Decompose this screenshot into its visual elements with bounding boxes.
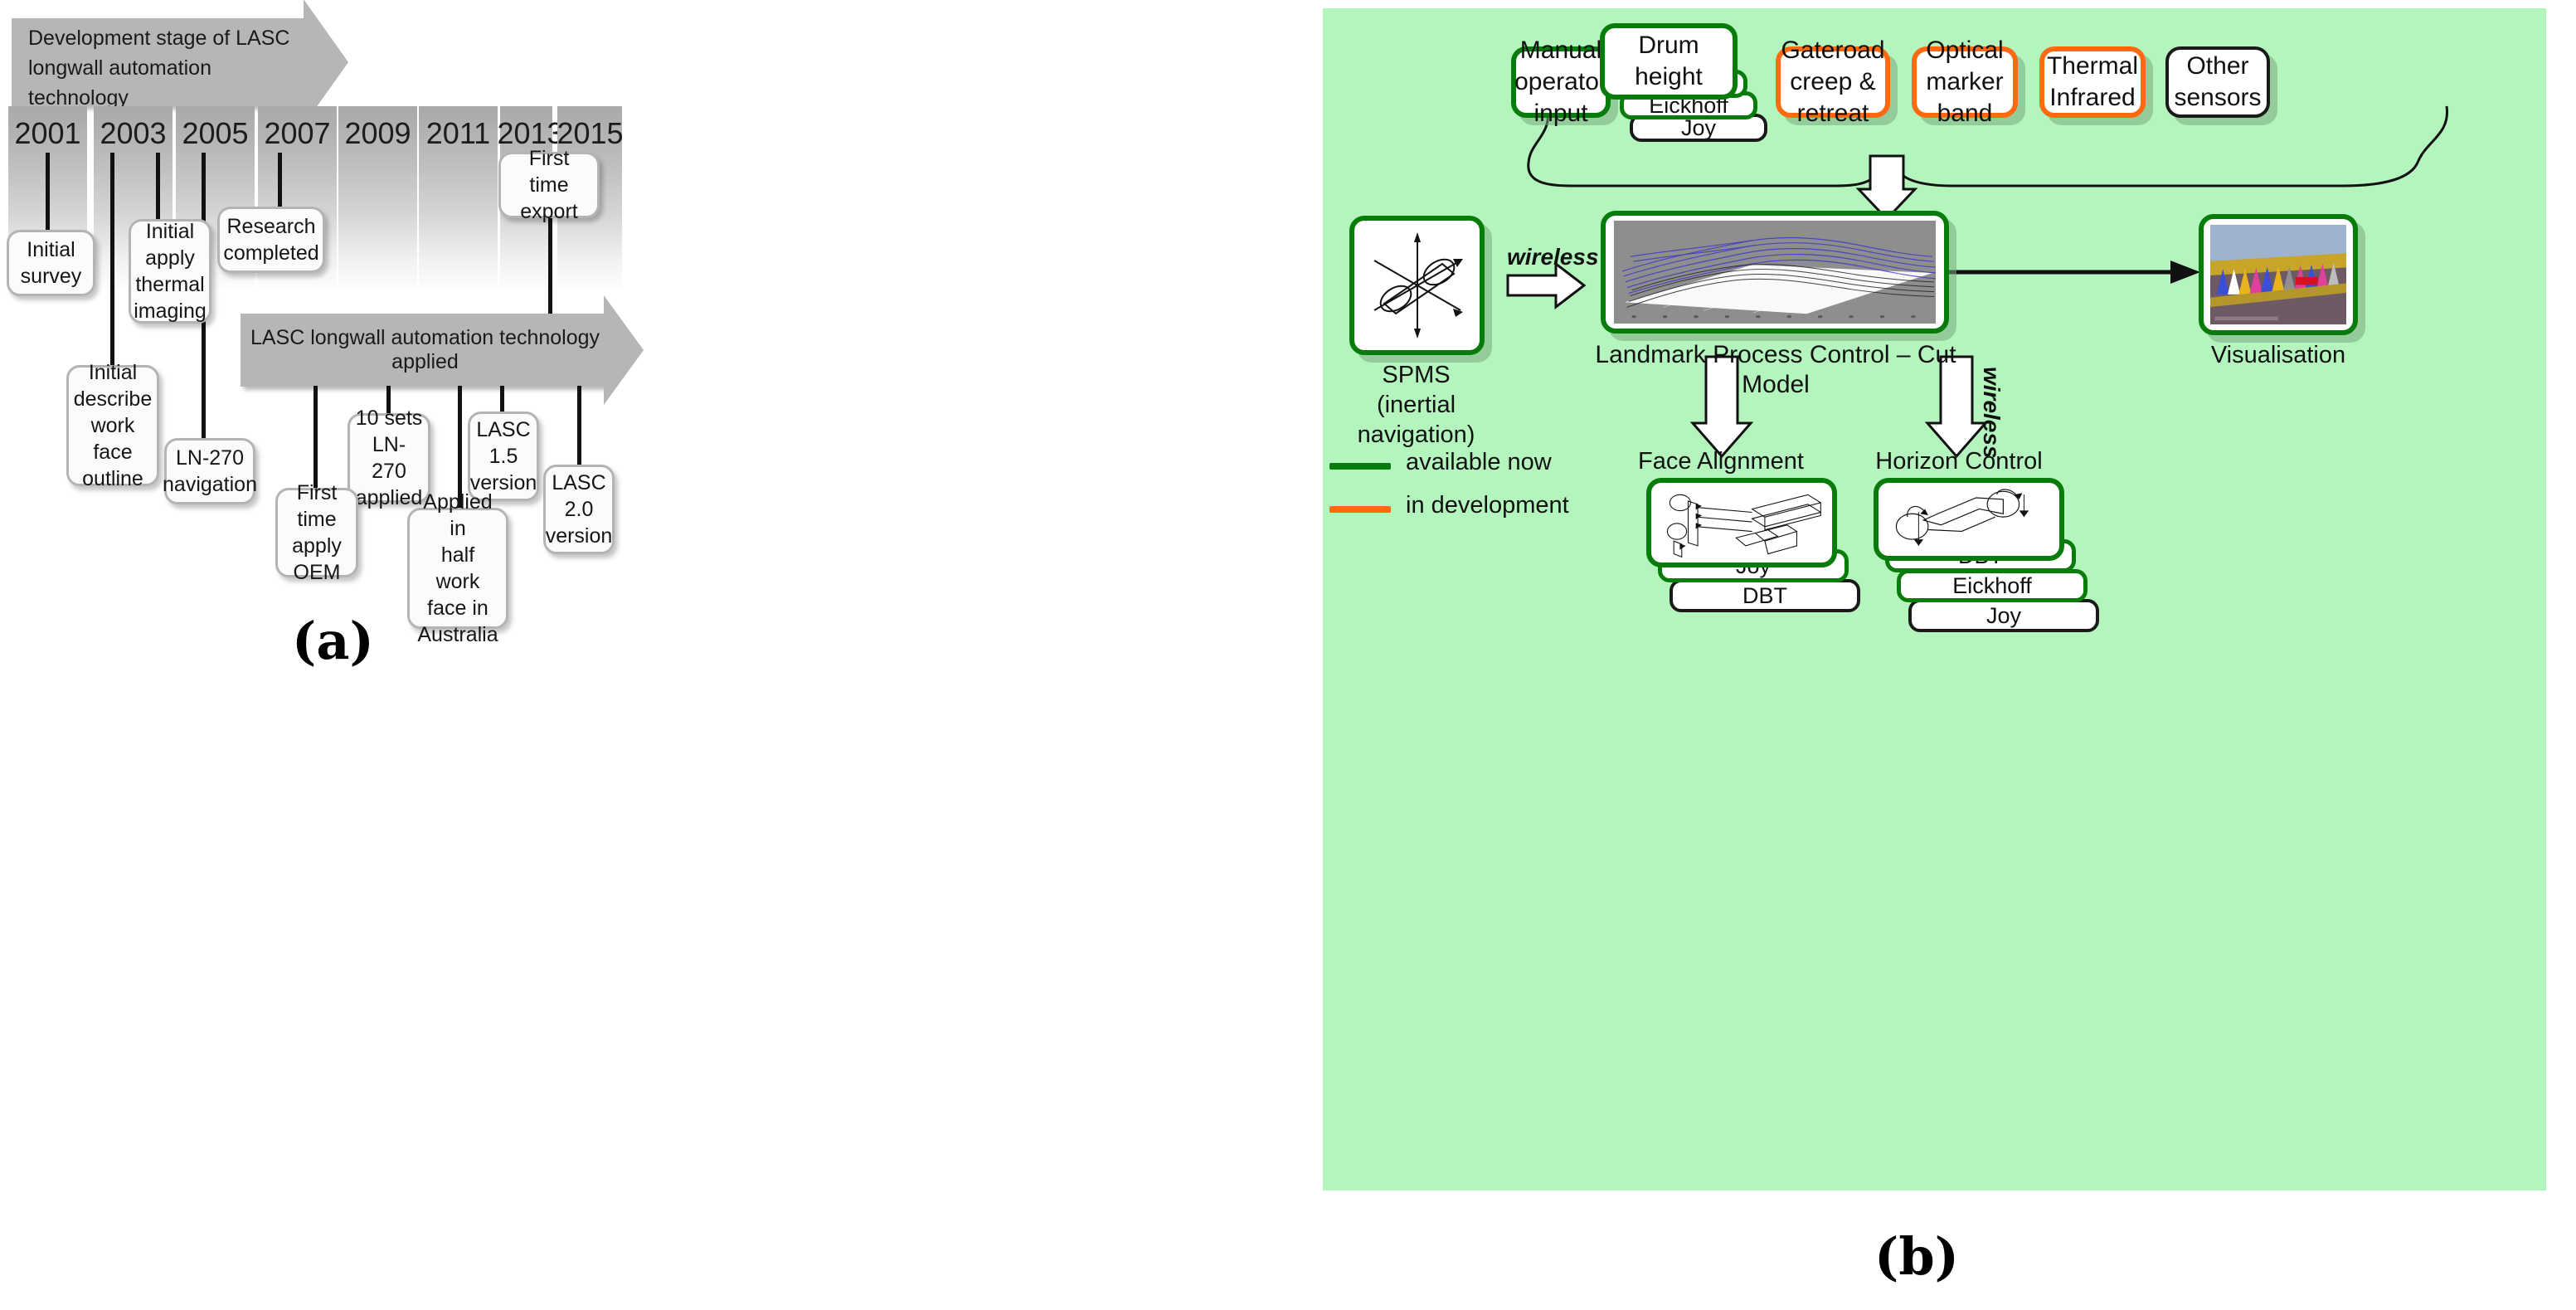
stem-initial-survey bbox=[46, 153, 50, 234]
event-box-first-time-apply-oem: First time apply OEM bbox=[275, 488, 358, 577]
wireless-label-top: wireless bbox=[1507, 244, 1599, 270]
event-box-first-time-export: First time export bbox=[498, 152, 600, 218]
vendor-label-dbt-face: DBT bbox=[1742, 583, 1787, 609]
input-box-optical-marker-band[interactable]: Optical marker band bbox=[1912, 46, 2018, 118]
banner-applied-text: LASC longwall automation technology appl… bbox=[249, 314, 601, 387]
input-box-drum-height[interactable]: Drum height bbox=[1600, 23, 1738, 100]
wireless-label-bottom-text: wireless bbox=[1979, 367, 2005, 459]
legend-swatch-in-development bbox=[1329, 506, 1391, 513]
banner-line-1: Development stage of LASC bbox=[28, 23, 310, 53]
vendor-label-joy-horizon: Joy bbox=[1986, 603, 2021, 629]
stem-lasc-15 bbox=[500, 386, 504, 413]
year-label-2009: 2009 bbox=[338, 116, 417, 151]
vendor-strip-eickhoff-horizon: Eickhoff bbox=[1897, 569, 2088, 602]
year-label-2005: 2005 bbox=[176, 116, 255, 151]
spms-box[interactable] bbox=[1349, 216, 1485, 355]
event-box-applied-half-work-face: Applied in half work face in Australia bbox=[407, 508, 508, 629]
stem-initial-thermal bbox=[156, 153, 160, 221]
banner-line-2: longwall automation technology bbox=[28, 53, 310, 113]
stem-initial-describe bbox=[110, 153, 114, 378]
spms-label-line-2: (inertial navigation) bbox=[1327, 390, 1505, 450]
cut-model-caption: Landmark Process Control – Cut Model bbox=[1588, 340, 1963, 400]
panel-a-letter: (a) bbox=[292, 611, 374, 671]
event-box-initial-survey: Initial survey bbox=[7, 230, 95, 296]
wireless-label-bottom: wireless bbox=[1978, 367, 2005, 459]
banner-arrowhead-icon-2 bbox=[604, 295, 644, 405]
face-alignment-machine-icon bbox=[1656, 484, 1827, 562]
vendor-strip-joy-horizon: Joy bbox=[1908, 599, 2099, 632]
input-box-other-sensors[interactable]: Other sensors bbox=[2165, 46, 2270, 118]
inertial-navigation-icon bbox=[1359, 227, 1475, 343]
visualisation-box[interactable] bbox=[2199, 214, 2358, 335]
year-label-2003: 2003 bbox=[94, 116, 173, 151]
input-box-manual-operator-input[interactable]: Manual operator input bbox=[1511, 46, 1611, 118]
legend-swatch-available-now bbox=[1329, 463, 1391, 470]
cut-model-box[interactable] bbox=[1601, 211, 1949, 334]
horizon-control-caption: Horizon Control bbox=[1872, 446, 2046, 476]
event-box-initial-thermal: Initial apply thermal imaging bbox=[129, 219, 211, 324]
legend-label-available-now: available now bbox=[1406, 449, 1552, 476]
input-box-gateroad-creep-retreat[interactable]: Gateroad creep & retreat bbox=[1776, 46, 1890, 118]
vendor-strip-dbt-face: DBT bbox=[1670, 579, 1860, 612]
year-label-2007: 2007 bbox=[258, 116, 337, 151]
event-box-ln270-navigation: LN-270 navigation bbox=[164, 438, 255, 504]
input-box-thermal-infrared[interactable]: Thermal Infrared bbox=[2039, 46, 2146, 118]
panel-b-system-diagram: Manual operator input Joy Eickhoff DBT D… bbox=[1323, 8, 2546, 1191]
stem-lasc-20 bbox=[577, 386, 581, 466]
longwall-visualisation-icon bbox=[2210, 222, 2346, 327]
banner-development-stage-text: Development stage of LASC longwall autom… bbox=[28, 23, 310, 113]
stem-research bbox=[278, 153, 282, 208]
legend-label-in-development: in development bbox=[1406, 492, 1569, 519]
event-box-lasc-15-version: LASC 1.5 version bbox=[468, 412, 539, 501]
horizon-control-box[interactable] bbox=[1874, 478, 2064, 561]
face-alignment-box[interactable] bbox=[1646, 478, 1837, 567]
visualisation-caption: Visualisation bbox=[2179, 340, 2378, 370]
cut-model-surface-plot-icon bbox=[1614, 220, 1936, 324]
stem-first-time-apply-oem bbox=[313, 386, 318, 489]
event-box-research-completed: Research completed bbox=[217, 207, 325, 273]
event-box-initial-describe: Initial describe work face outline bbox=[66, 365, 159, 486]
panel-a-timeline: Development stage of LASC longwall autom… bbox=[0, 0, 1294, 1310]
face-alignment-caption: Face Alignment bbox=[1638, 446, 1804, 476]
spms-label: SPMS (inertial navigation) bbox=[1327, 360, 1505, 450]
year-label-2011: 2011 bbox=[419, 116, 498, 151]
spms-label-line-1: SPMS bbox=[1327, 360, 1505, 390]
year-label-2001: 2001 bbox=[8, 116, 87, 151]
vendor-label-eickhoff-horizon: Eickhoff bbox=[1952, 573, 2032, 599]
panel-b-letter: (b) bbox=[1874, 1226, 1959, 1287]
event-box-lasc-20-version: LASC 2.0 version bbox=[543, 465, 615, 554]
horizon-control-shearer-icon bbox=[1883, 484, 2054, 555]
